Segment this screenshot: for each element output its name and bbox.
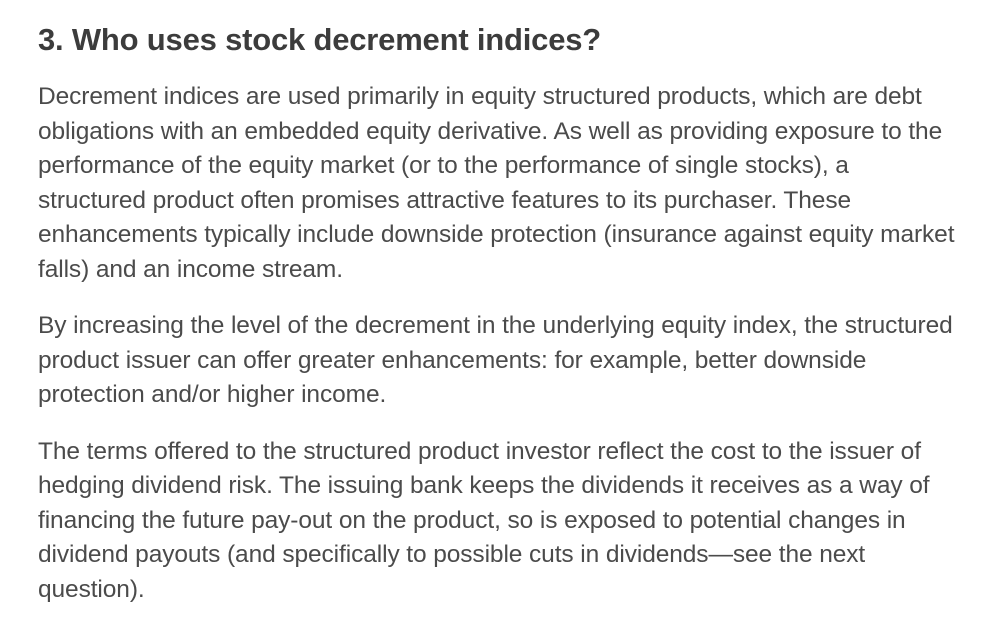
page-title: 3. Who uses stock decrement indices? <box>38 20 962 60</box>
heading-spacer <box>38 60 962 80</box>
paragraph-2: By increasing the level of the decrement… <box>38 309 963 413</box>
document-page: 3. Who uses stock decrement indices? Dec… <box>0 0 1000 630</box>
paragraph-1: Decrement indices are used primarily in … <box>38 80 963 287</box>
article-body: Decrement indices are used primarily in … <box>38 80 963 607</box>
paragraph-3: The terms offered to the structured prod… <box>38 435 963 608</box>
